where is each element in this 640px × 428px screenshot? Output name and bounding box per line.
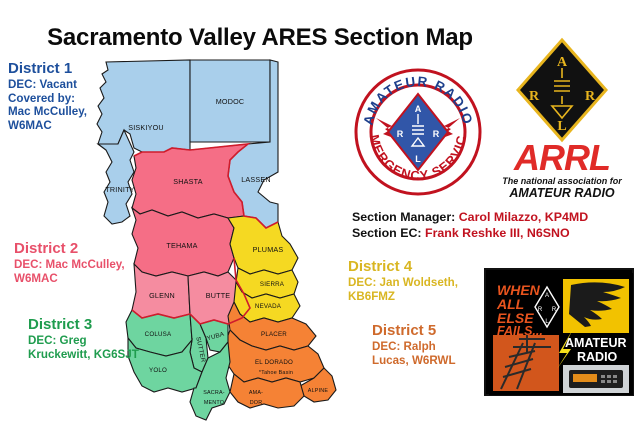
county-label-amador-1: AMA- — [249, 390, 263, 396]
section-manager-name: Carol Milazzo, KP4MD — [459, 210, 588, 224]
county-label-trinity: TRINITY — [105, 185, 134, 194]
district-1-heading: District 1 — [8, 60, 87, 77]
district-2-heading: District 2 — [14, 240, 125, 257]
district-4-line-1: DEC: Jan Woldseth, — [348, 276, 458, 289]
district-1-line-2: Covered by: — [8, 92, 87, 105]
district-5-line-2: Lucas, W6RWL — [372, 354, 456, 367]
section-ec-label: Section EC: — [352, 226, 422, 240]
sacramento-valley-county-map[interactable]: SISKIYOU MODOC TRINITY SHASTA LASSEN TEH… — [78, 52, 378, 422]
district-3-line-2: Kruckewitt, KG6SJT — [28, 348, 139, 361]
diamond-letter-a: A — [545, 293, 549, 299]
district-4-heading: District 4 — [348, 258, 458, 275]
county-label-placer: PLACER — [261, 331, 287, 338]
county-label-nevada: NEVADA — [255, 303, 282, 310]
county-label-tehama: TEHAMA — [166, 241, 197, 250]
county-trinity[interactable] — [98, 130, 134, 224]
district-1-line-3: Mac McCulley, — [8, 105, 87, 118]
diamond-letter-r1: R — [538, 307, 543, 313]
section-ec-row: Section EC: Frank Reshke III, N6SNO — [352, 226, 588, 242]
diamond-letter-l: L — [415, 154, 421, 164]
county-label-modoc: MODOC — [216, 97, 245, 106]
ares-logo: AMATEUR RADIO EMERGENCY SERVICE A R R L — [352, 66, 484, 198]
county-label-sacramento-1: SACRA- — [203, 390, 225, 396]
district-4-line-2: KB6FMZ — [348, 290, 458, 303]
poster-caption-line-2: RADIO — [577, 350, 618, 364]
district-2-legend: District 2 DEC: Mac McCulley, W6MAC — [14, 240, 125, 285]
county-label-alpine: ALPINE — [308, 388, 329, 394]
arrl-wordmark: ARRL — [513, 137, 610, 178]
section-map-page: Sacramento Valley ARES Section Map — [0, 0, 640, 428]
district-1-line-4: W6MAC — [8, 119, 87, 132]
county-label-amador-2: DOR — [250, 400, 263, 406]
poster-line-4: FAILS... — [497, 324, 543, 338]
county-label-glenn: GLENN — [149, 291, 175, 300]
district-5-heading: District 5 — [372, 322, 456, 339]
district-3-heading: District 3 — [28, 316, 139, 333]
diamond-letter-r2: R — [433, 129, 440, 139]
when-all-else-fails-poster[interactable]: WHEN ALL ELSE FAILS... A R R L AMATEUR R… — [484, 268, 634, 396]
arrl-diamond-letter-a: A — [557, 55, 568, 70]
county-label-siskiyou: SISKIYOU — [128, 123, 164, 132]
county-label-el-dorado: EL DORADO — [255, 359, 293, 366]
arrl-logo-block: A R R L ARRL The national association fo… — [492, 34, 632, 204]
arrl-diamond-letter-r1: R — [529, 89, 540, 104]
county-label-butte: BUTTE — [206, 291, 231, 300]
district-3-legend: District 3 DEC: Greg Kruckewitt, KG6SJT — [28, 316, 139, 361]
county-siskiyou[interactable] — [97, 60, 190, 152]
section-ec-name: Frank Reshke III, N6SNO — [425, 226, 570, 240]
section-manager-row: Section Manager: Carol Milazzo, KP4MD — [352, 210, 588, 226]
county-label-plumas: PLUMAS — [253, 245, 284, 254]
arrl-diamond-letter-l: L — [557, 119, 566, 134]
county-label-sierra: SIERRA — [260, 281, 285, 288]
diamond-letter-r2: R — [552, 307, 557, 313]
section-officers: Section Manager: Carol Milazzo, KP4MD Se… — [352, 210, 588, 241]
county-label-sacramento-2: MENTO — [204, 400, 224, 406]
diamond-letter-a: A — [415, 104, 422, 114]
arrl-diamond-letter-r2: R — [585, 89, 596, 104]
district-5-line-1: DEC: Ralph — [372, 340, 456, 353]
district-4-legend: District 4 DEC: Jan Woldseth, KB6FMZ — [348, 258, 458, 303]
arrl-tagline-line1: The national association for — [502, 176, 622, 186]
county-label-colusa: COLUSA — [145, 331, 172, 338]
district-1-legend: District 1 DEC: Vacant Covered by: Mac M… — [8, 60, 87, 132]
district-1-line-1: DEC: Vacant — [8, 78, 87, 91]
district-5-legend: District 5 DEC: Ralph Lucas, W6RWL — [372, 322, 456, 367]
diamond-letter-r1: R — [397, 129, 404, 139]
district-3-line-1: DEC: Greg — [28, 334, 139, 347]
arrl-tagline-line2: AMATEUR RADIO — [508, 186, 615, 200]
radio-display — [573, 374, 597, 382]
county-label-lassen: LASSEN — [241, 175, 271, 184]
section-manager-label: Section Manager: — [352, 210, 455, 224]
county-label-shasta: SHASTA — [173, 177, 202, 186]
district-2-line-2: W6MAC — [14, 272, 125, 285]
county-label-yolo: YOLO — [149, 367, 167, 374]
poster-caption-line-1: AMATEUR — [565, 336, 627, 350]
county-label-tahoe-basin: *Tahoe Basin — [259, 370, 293, 376]
district-2-line-1: DEC: Mac McCulley, — [14, 258, 125, 271]
page-title: Sacramento Valley ARES Section Map — [0, 24, 520, 52]
